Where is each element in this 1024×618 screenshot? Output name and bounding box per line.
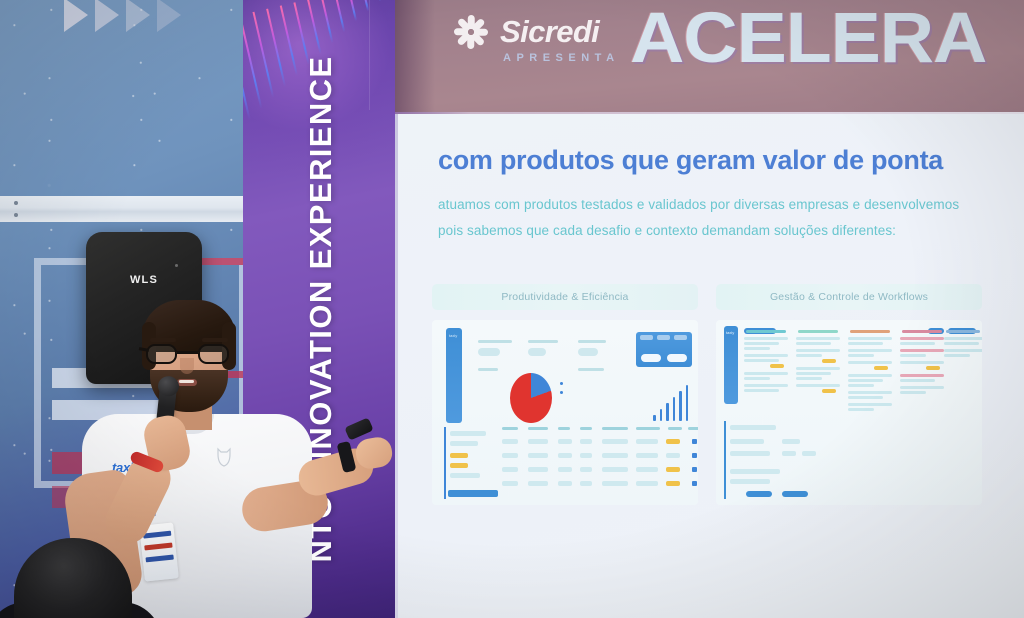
slide-heading: com produtos que geram valor de ponta [438,145,943,176]
sicredi-wordmark: Sicredi [500,14,599,50]
rail-screw-icon [14,201,18,205]
dashboard-mockup: taxly [432,320,698,505]
slide-body: com produtos que geram valor de ponta at… [398,114,1024,618]
arrow-graphic-group [64,0,181,32]
arrow-icon [64,0,88,32]
presenter-eyebrow [150,338,176,342]
pie-legend [560,382,563,400]
mock-detail-panel [724,421,834,499]
presentation-photo-scene: WLS NTO INNOVATION EXPERIENCE [0,0,1024,618]
tshirt-mascot-icon [214,446,234,468]
mock-data-table [444,427,692,499]
arrow-icon [157,0,181,32]
card-header-label: Gestão & Controle de Workflows [770,291,928,303]
sicredi-pinwheel-icon [457,15,491,49]
speaker-screw-icon [175,264,178,267]
slide-header-band: Sicredi APRESENTA ACELERA [395,0,1024,114]
card-header-label: Produtividade & Eficiência [501,291,628,303]
presenter-teeth [179,380,194,383]
mock-widget-card [636,332,692,367]
presentation-clicker[interactable] [344,417,373,440]
bar-chart [653,385,688,421]
mock-sidebar: taxly [446,328,462,423]
projection-screen: Sicredi APRESENTA ACELERA com produtos q… [395,0,1024,618]
presenter-eyebrow [202,338,228,342]
sicredi-logo-lockup: Sicredi [457,14,599,50]
card-header-chip: Gestão & Controle de Workflows [716,284,982,310]
slide-subtext-line2: pois sabemos que cada desafio e contexto… [438,218,959,244]
pie-chart [510,373,552,423]
mock-sidebar: taxly [724,326,738,404]
card-header-chip: Produtividade & Eficiência [432,284,698,310]
eyeglasses-icon [143,344,235,364]
rail-screw-icon [14,213,18,217]
wall-rail [0,196,243,222]
arrow-icon [126,0,150,32]
apresenta-label: APRESENTA [503,52,620,64]
arrow-icon [95,0,119,32]
slide-subtext-line1: atuamos com produtos testados e validado… [438,192,959,218]
banner-seam [369,0,370,110]
event-title: ACELERA [630,0,986,79]
kanban-mockup: taxly [716,320,982,505]
slide-subtext: atuamos com produtos testados e validado… [438,192,959,245]
speaker-brand-label: WLS [86,274,202,286]
product-card-productivity: Produtividade & Eficiência taxly [432,284,698,505]
product-card-workflow: Gestão & Controle de Workflows taxly [716,284,982,505]
